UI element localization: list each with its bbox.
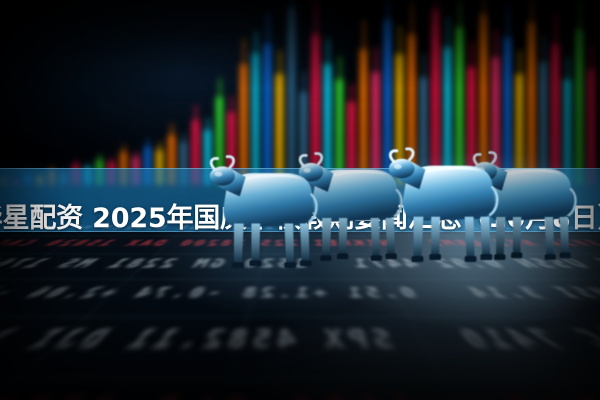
article-hero-image: 1150 9LI 0550 21SL N3ZAM 4192 05GT11 NAS…: [0, 0, 600, 400]
bull-icon: [206, 146, 324, 272]
